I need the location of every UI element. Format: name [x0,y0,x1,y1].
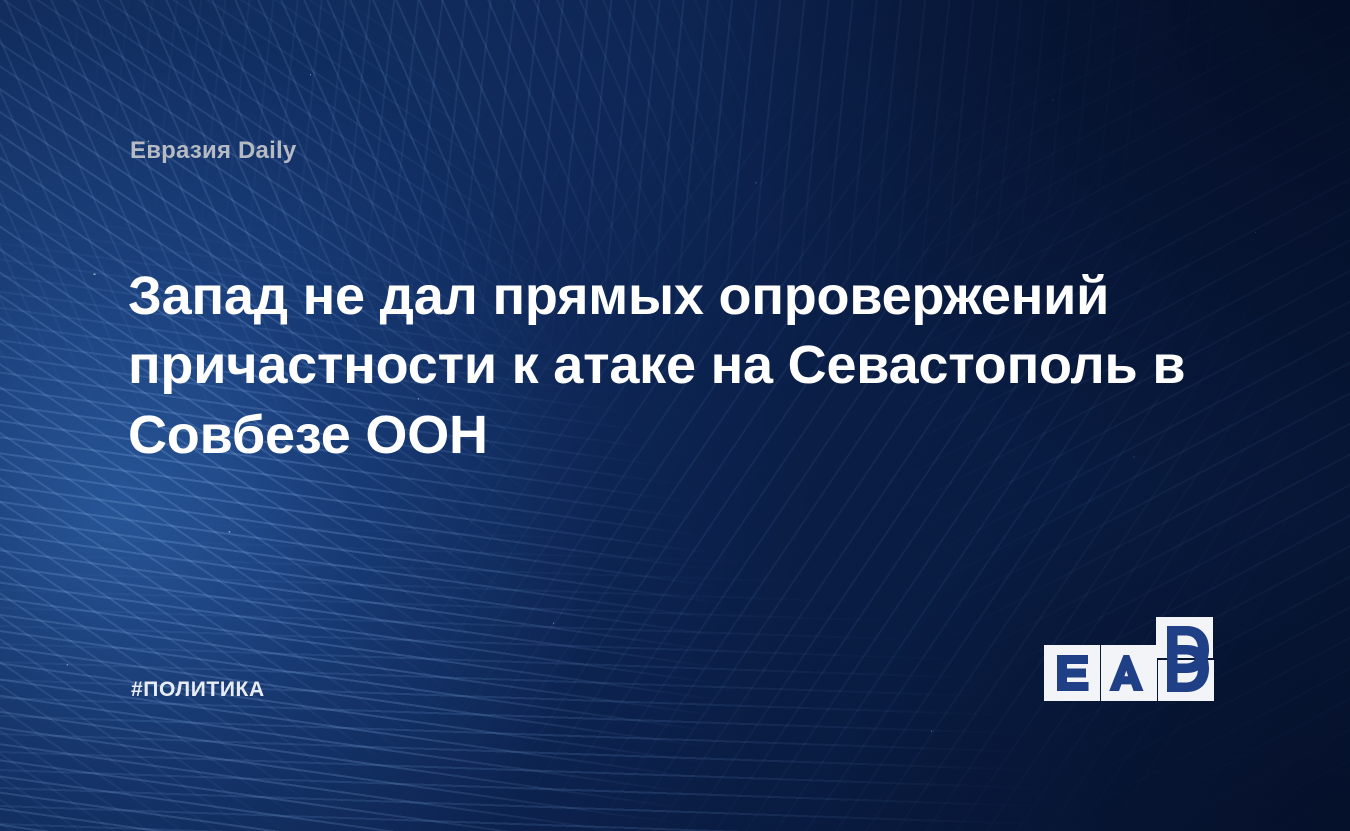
eadaily-logo[interactable] [1043,617,1224,701]
category-tag-politics[interactable]: #ПОЛИТИКА [131,678,265,702]
article-share-card: Евразия Daily Запад не дал прямых опрове… [0,0,1350,831]
eadaily-logo-icon [1043,617,1224,701]
card-content: Евразия Daily Запад не дал прямых опрове… [0,0,1350,831]
brand-name: Евразия Daily [130,137,296,165]
headline: Запад не дал прямых опровержений причаст… [128,262,1193,470]
